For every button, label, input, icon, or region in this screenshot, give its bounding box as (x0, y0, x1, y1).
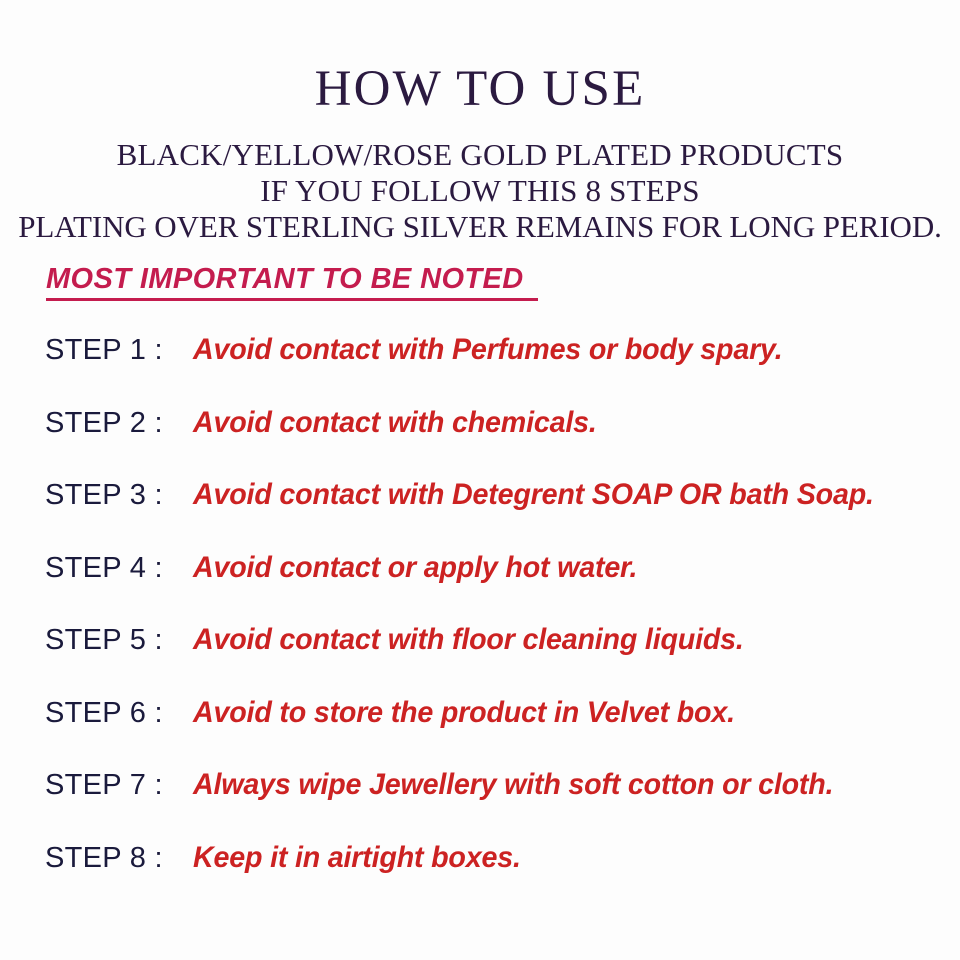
step-text-1: Avoid contact with Perfumes or body spar… (193, 335, 783, 365)
notice-heading: MOST IMPORTANT TO BE NOTED (46, 264, 524, 294)
step-row: STEP 8 : Keep it in airtight boxes. (0, 844, 960, 917)
step-label-1: STEP 1 : (45, 336, 163, 365)
how-to-use-poster: HOW TO USE BLACK/YELLOW/ROSE GOLD PLATED… (0, 0, 960, 960)
step-row: STEP 3 : Avoid contact with Detegrent SO… (0, 481, 960, 554)
step-label-2: STEP 2 : (45, 409, 163, 438)
step-label-4: STEP 4 : (45, 554, 163, 583)
step-row: STEP 6 : Avoid to store the product in V… (0, 699, 960, 772)
steps-list: STEP 1 : Avoid contact with Perfumes or … (0, 336, 960, 916)
step-label-5: STEP 5 : (45, 626, 163, 655)
step-row: STEP 2 : Avoid contact with chemicals. (0, 409, 960, 482)
step-text-3: Avoid contact with Detegrent SOAP OR bat… (193, 480, 874, 510)
step-text-7: Always wipe Jewellery with soft cotton o… (193, 770, 833, 800)
subtitle-line-3: PLATING OVER STERLING SILVER REMAINS FOR… (0, 209, 960, 245)
notice-heading-block: MOST IMPORTANT TO BE NOTED (46, 264, 538, 301)
step-label-7: STEP 7 : (45, 771, 163, 800)
step-row: STEP 7 : Always wipe Jewellery with soft… (0, 771, 960, 844)
step-label-3: STEP 3 : (45, 481, 163, 510)
subtitle-line-1: BLACK/YELLOW/ROSE GOLD PLATED PRODUCTS (0, 137, 960, 173)
subtitle-line-2: IF YOU FOLLOW THIS 8 STEPS (0, 173, 960, 209)
step-text-5: Avoid contact with floor cleaning liquid… (193, 625, 744, 655)
subtitle-block: BLACK/YELLOW/ROSE GOLD PLATED PRODUCTS I… (0, 137, 960, 245)
notice-underline (46, 298, 538, 301)
step-row: STEP 1 : Avoid contact with Perfumes or … (0, 336, 960, 409)
step-row: STEP 4 : Avoid contact or apply hot wate… (0, 554, 960, 627)
step-text-2: Avoid contact with chemicals. (193, 408, 597, 438)
step-row: STEP 5 : Avoid contact with floor cleani… (0, 626, 960, 699)
step-text-8: Keep it in airtight boxes. (193, 843, 521, 873)
step-label-6: STEP 6 : (45, 699, 163, 728)
header-block: HOW TO USE BLACK/YELLOW/ROSE GOLD PLATED… (0, 0, 960, 245)
step-text-4: Avoid contact or apply hot water. (193, 553, 637, 583)
step-label-8: STEP 8 : (45, 844, 163, 873)
step-text-6: Avoid to store the product in Velvet box… (193, 698, 735, 728)
page-title: HOW TO USE (0, 0, 960, 115)
